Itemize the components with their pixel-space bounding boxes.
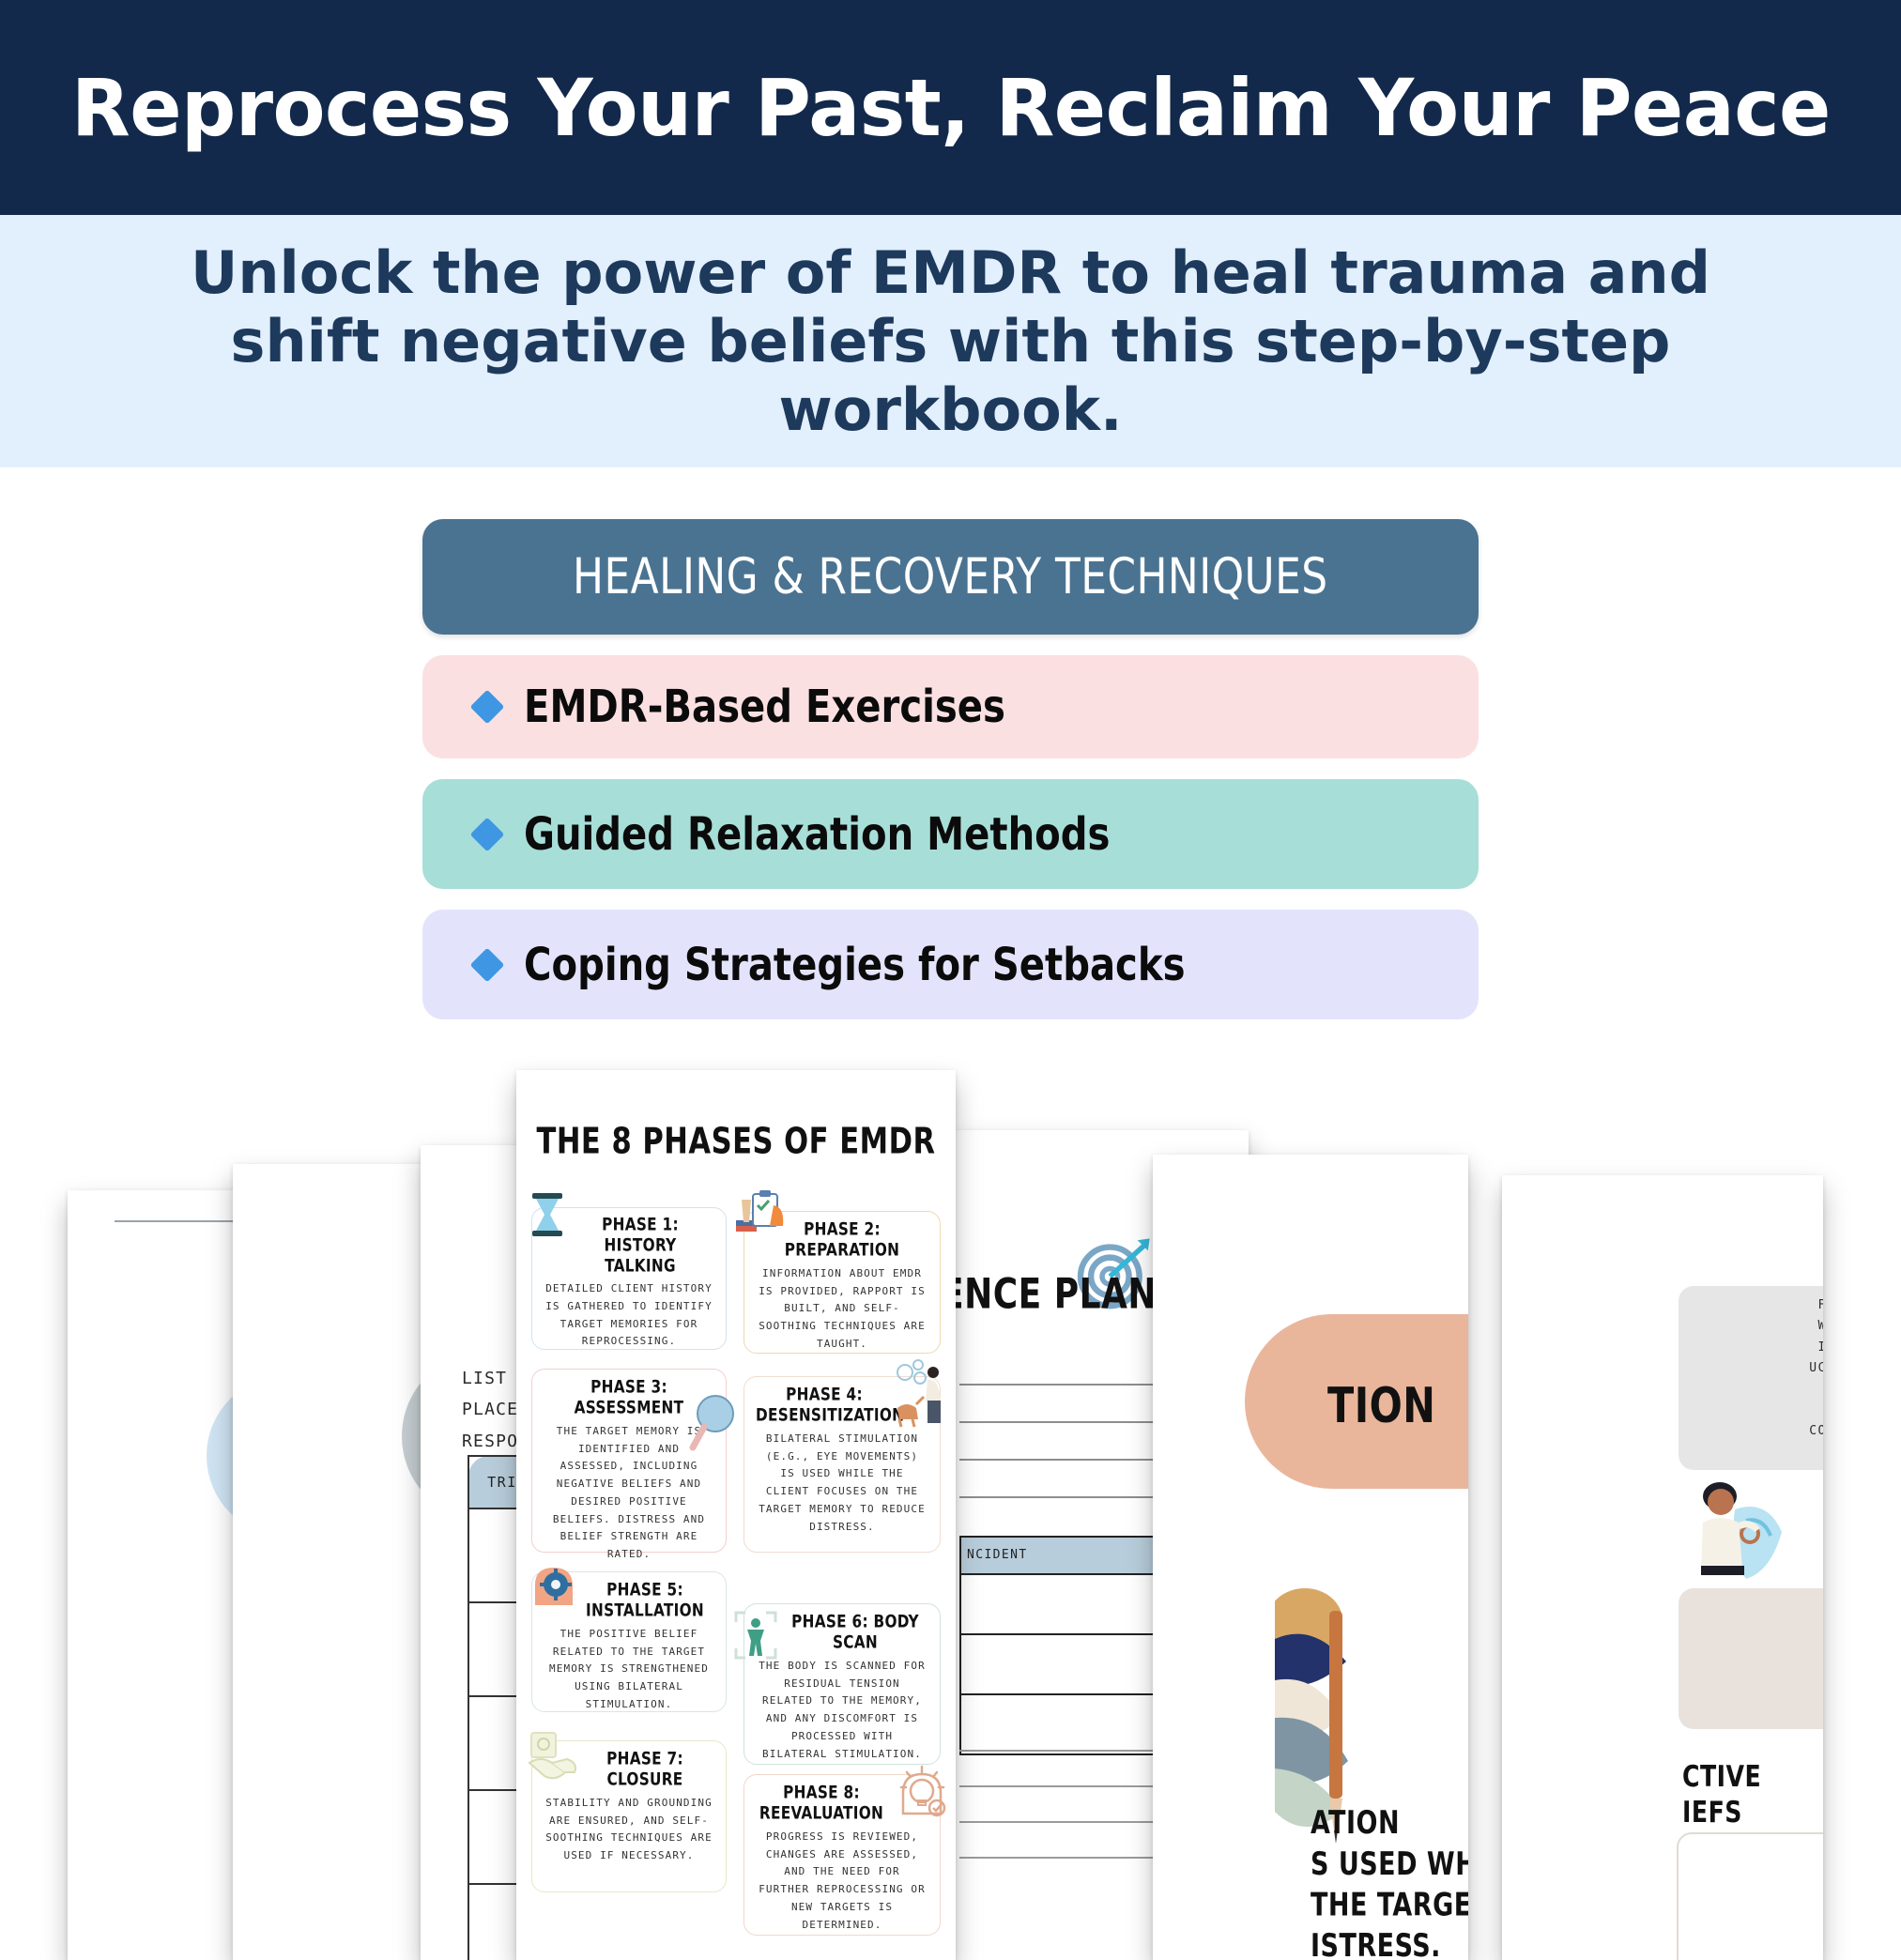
handshake-icon (528, 1731, 582, 1785)
diamond-icon (470, 817, 505, 851)
phase-body: THE BODY IS SCANNED FOR RESIDUAL TENSION… (756, 1658, 928, 1763)
hourglass-icon (526, 1190, 569, 1239)
clipboard-icon (734, 1185, 790, 1241)
phase-body: INFORMATION ABOUT EMDR IS PROVIDED, RAPP… (756, 1265, 928, 1353)
header-band: Reprocess Your Past, Reclaim Your Peace (0, 0, 1901, 215)
phase-body: STABILITY AND GROUNDING ARE ENSURED, AND… (544, 1795, 714, 1865)
phase-heading: PHASE 6: BODY SCAN (756, 1612, 928, 1653)
lightbulb-head-icon (894, 1761, 948, 1819)
phase-body: PROGRESS IS REVIEWED, CHANGES ARE ASSESS… (756, 1829, 928, 1934)
meditating-person-icon (1680, 1474, 1793, 1596)
feature-item-label: EMDR-Based Exercises (524, 681, 1005, 733)
feature-item-guided-relaxation[interactable]: Guided Relaxation Methods (422, 779, 1479, 889)
workbook-page-stack: HISTO HIST TREAT INS THE CL STRENGTHE TH… (0, 1070, 1901, 1901)
feature-item-label: Guided Relaxation Methods (524, 808, 1110, 861)
head-gear-icon (528, 1562, 578, 1613)
feature-item-emdr-exercises[interactable]: EMDR-Based Exercises (422, 655, 1479, 758)
page-footer-text: ATION S USED WHILE THE TARGET ISTRESS. (1311, 1803, 1468, 1960)
features-heading-bar: HEALING & RECOVERY TECHNIQUES (422, 519, 1479, 635)
workbook-page-desensitization[interactable]: TION ATION S USED WHILE THE TARGET ISTRE… (1153, 1155, 1468, 1960)
diamond-icon (470, 947, 505, 982)
person-dog-icon (892, 1359, 952, 1431)
bubble-text: HALLENGES " M OPEN IES FOR (1684, 1844, 1823, 1927)
page-subtitle: Unlock the power of EMDR to heal trauma … (153, 238, 1749, 444)
subtitle-band: Unlock the power of EMDR to heal trauma … (0, 215, 1901, 467)
page-heading: CTIVE IEFS (1682, 1759, 1761, 1830)
phase-body: BILATERAL STIMULATION (E.G., EYE MOVEMEN… (756, 1431, 928, 1536)
bubble-text: I AM DESERVING (1684, 1926, 1823, 1960)
bubble-text: R THAN D BY EARLY VOLVE WITH RT AND RESH… (1686, 1602, 1823, 1707)
features-list: HEALING & RECOVERY TECHNIQUES EMDR-Based… (422, 519, 1479, 1040)
feature-item-label: Coping Strategies for Setbacks (524, 939, 1185, 991)
page-heading: THE 8 PHASES OF EMDR (516, 1121, 956, 1163)
workbook-page-8-phases[interactable]: THE 8 PHASES OF EMDR PHASE 1: HISTORY TA… (516, 1070, 956, 1960)
page-heading: ENCE PLAN (950, 1270, 1157, 1319)
page-title: Reprocess Your Past, Reclaim Your Peace (71, 62, 1831, 154)
feature-item-coping-strategies[interactable]: Coping Strategies for Setbacks (422, 910, 1479, 1019)
body-scan-icon (732, 1609, 779, 1661)
features-heading-label: HEALING & RECOVERY TECHNIQUES (573, 548, 1328, 605)
bubble-text: FLUENCE HOW WORLD. CORE IEFS CAN BE UCH … (1686, 1295, 1823, 1463)
magnifier-icon (687, 1393, 742, 1453)
phase-body: THE POSITIVE BELIEF RELATED TO THE TARGE… (544, 1626, 714, 1713)
phase-body: DETAILED CLIENT HISTORY IS GATHERED TO I… (544, 1280, 714, 1351)
workbook-page-core-beliefs[interactable]: FLUENCE HOW WORLD. CORE IEFS CAN BE UCH … (1502, 1175, 1823, 1960)
phase-heading: PHASE 1: HISTORY TALKING (544, 1215, 714, 1277)
page-heading: TION (1327, 1377, 1435, 1433)
diamond-icon (470, 690, 505, 725)
